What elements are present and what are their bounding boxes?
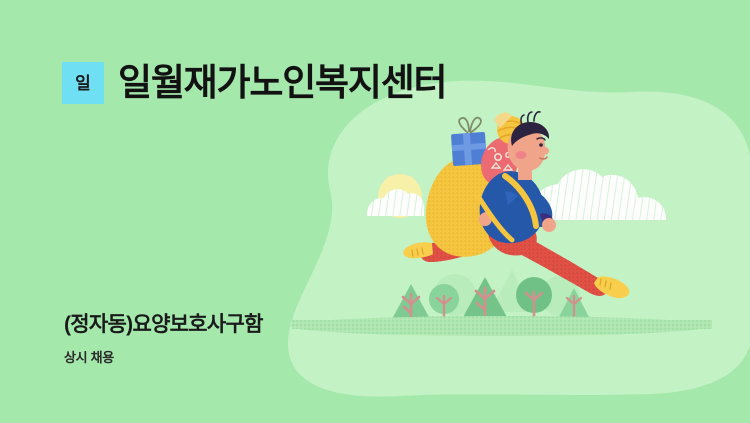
brand-title: 일월재가노인복지센터 xyxy=(118,64,446,103)
cloud-right xyxy=(528,169,666,220)
gift-ball xyxy=(497,116,525,144)
ground-strip xyxy=(290,316,712,336)
shoe-right xyxy=(594,277,629,299)
card-footer: (정자동)요양보호사구함 상시 채용 xyxy=(64,312,263,366)
shirt xyxy=(480,171,544,243)
job-title: (정자동)요양보호사구함 xyxy=(64,312,263,338)
gift-cone xyxy=(481,138,517,185)
head xyxy=(508,112,549,171)
sun-shape xyxy=(378,174,422,218)
brand-badge: 일 xyxy=(62,62,104,104)
job-posting-card: 일 일월재가노인복지센터 (정자동)요양보호사구함 상시 채용 xyxy=(0,0,750,423)
gift-box xyxy=(451,118,487,166)
shoe-left xyxy=(403,242,433,258)
job-status: 상시 채용 xyxy=(64,347,263,366)
hair xyxy=(511,122,549,146)
card-header: 일 일월재가노인복지센터 xyxy=(62,62,446,104)
gift-sack xyxy=(426,158,508,257)
running-man-figure xyxy=(403,112,629,298)
gift-items xyxy=(451,113,525,186)
cloud-left xyxy=(367,189,424,216)
tree-row xyxy=(392,270,590,325)
